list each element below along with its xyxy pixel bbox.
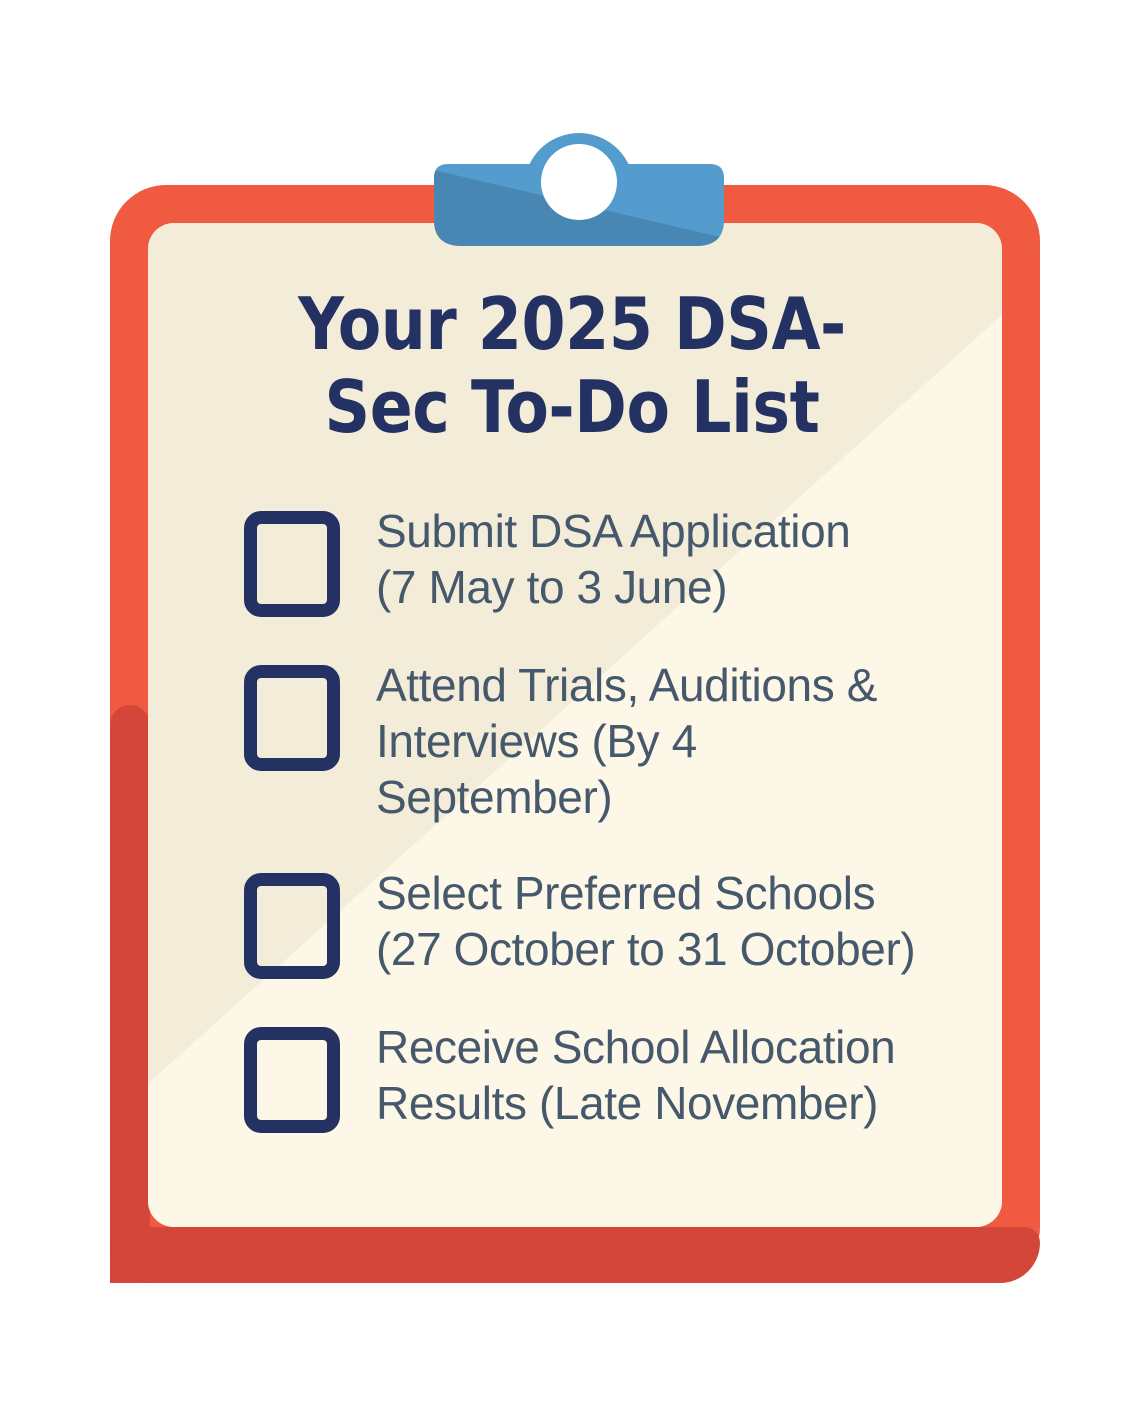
clipboard-todo-graphic: Your 2025 DSA-Sec To-Do List Submit DSA … xyxy=(0,0,1148,1407)
todo-checklist: Submit DSA Application (7 May to 3 June)… xyxy=(200,501,944,1133)
checkbox-submit-dsa-application[interactable] xyxy=(244,511,340,617)
checkbox-select-preferred-schools[interactable] xyxy=(244,873,340,979)
clipboard-clip-icon xyxy=(434,98,724,246)
clipboard-paper: Your 2025 DSA-Sec To-Do List Submit DSA … xyxy=(148,223,1002,1227)
clipboard-frame-shadow-left xyxy=(110,705,150,1283)
checkbox-receive-school-allocation-results[interactable] xyxy=(244,1027,340,1133)
list-item-label: Submit DSA Application (7 May to 3 June) xyxy=(376,501,850,615)
checkbox-attend-trials-auditions-interviews[interactable] xyxy=(244,665,340,771)
page-title: Your 2025 DSA-Sec To-Do List xyxy=(245,283,900,449)
clip-hole xyxy=(541,144,617,220)
list-item[interactable]: Select Preferred Schools (27 October to … xyxy=(200,863,944,979)
list-item[interactable]: Attend Trials, Auditions & Interviews (B… xyxy=(200,655,944,825)
list-item[interactable]: Receive School Allocation Results (Late … xyxy=(200,1017,944,1133)
clipboard-frame-shadow-bottom xyxy=(110,1227,1040,1283)
list-item[interactable]: Submit DSA Application (7 May to 3 June) xyxy=(200,501,944,617)
list-item-label: Select Preferred Schools (27 October to … xyxy=(376,863,915,977)
list-item-label: Receive School Allocation Results (Late … xyxy=(376,1017,895,1131)
list-item-label: Attend Trials, Auditions & Interviews (B… xyxy=(376,655,944,825)
